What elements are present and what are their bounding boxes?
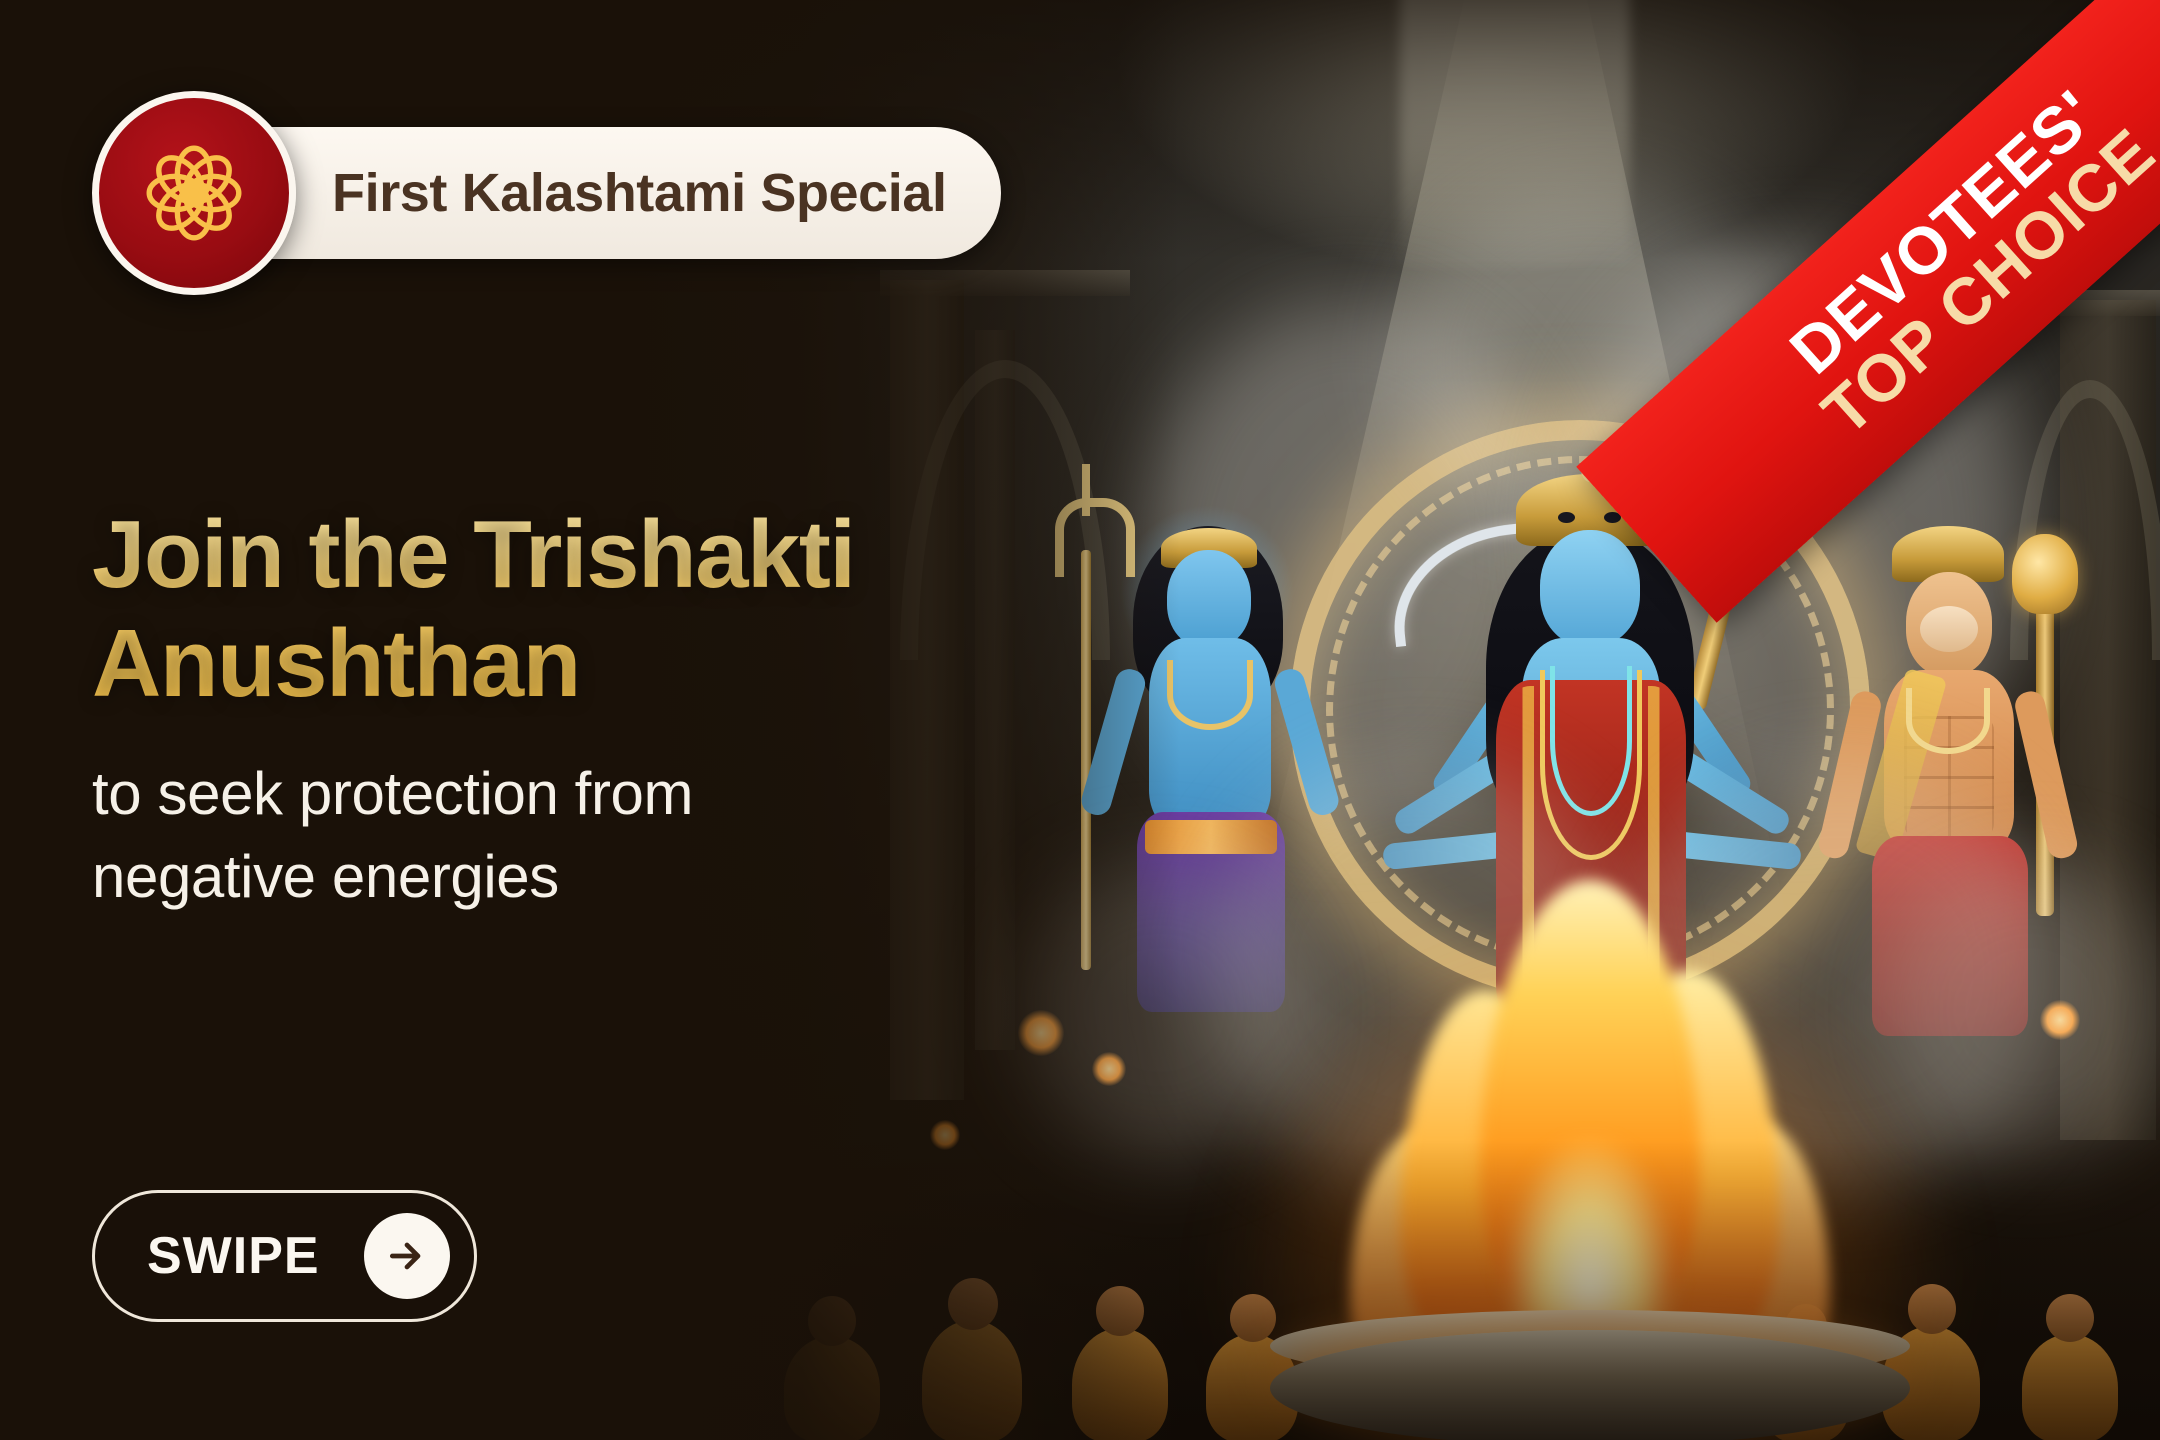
kali-eye xyxy=(1558,512,1575,523)
lotus-rosette-icon xyxy=(92,91,296,295)
gada-head-icon xyxy=(2012,534,2078,614)
kali-head xyxy=(1540,530,1640,646)
hanuman-arm xyxy=(2012,689,2079,861)
swipe-button-label: SWIPE xyxy=(147,1226,320,1286)
event-badge-pill: First Kalashtami Special xyxy=(184,127,1001,259)
copy-block: Join the Trishakti Anushthan to seek pro… xyxy=(92,500,1092,918)
headline-line-1: Join the Trishakti xyxy=(92,500,1092,609)
headline-line-2: Anushthan xyxy=(92,609,1092,718)
subcopy-line-1: to seek protection from xyxy=(92,753,1092,836)
subcopy: to seek protection from negative energie… xyxy=(92,753,1092,919)
swipe-button[interactable]: SWIPE xyxy=(92,1190,477,1322)
kali-necklace xyxy=(1550,666,1632,816)
subcopy-line-2: negative energies xyxy=(92,836,1092,919)
hanuman-necklace xyxy=(1906,688,1990,754)
hanuman-face xyxy=(1920,606,1978,652)
promotional-banner: DEVOTEES' TOP CHOICE First Kalashtami Sp… xyxy=(0,0,2160,1440)
arrow-right-icon[interactable] xyxy=(364,1213,450,1299)
event-badge-label: First Kalashtami Special xyxy=(332,162,947,224)
headline: Join the Trishakti Anushthan xyxy=(92,500,1092,719)
